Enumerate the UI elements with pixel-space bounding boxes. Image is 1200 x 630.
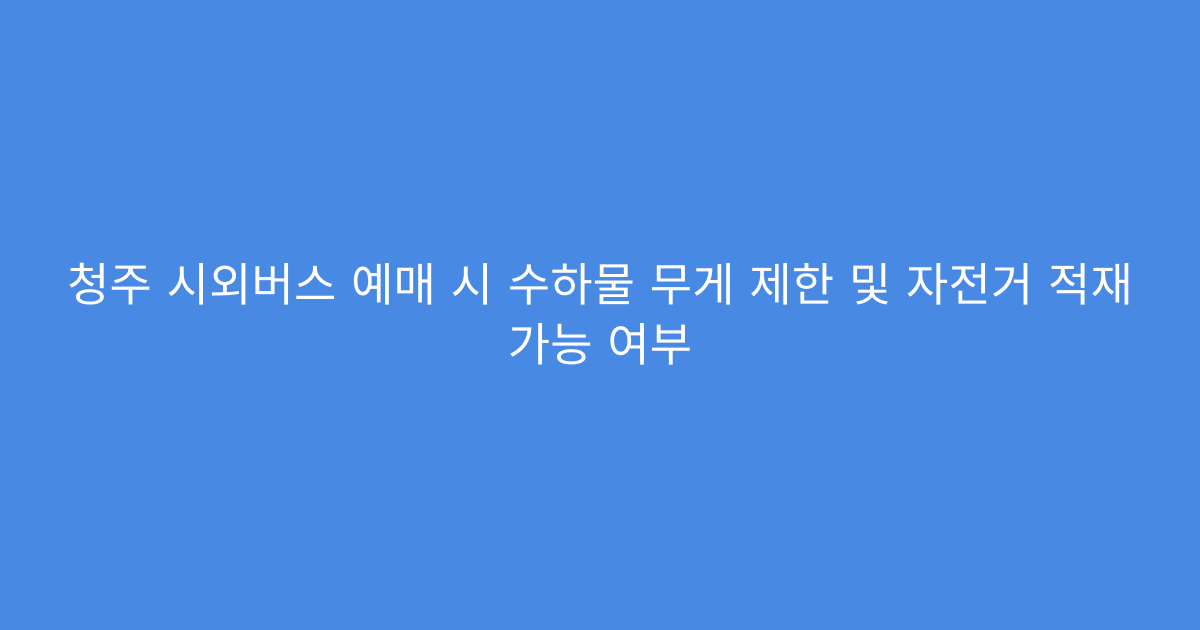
og-card: 청주 시외버스 예매 시 수하물 무게 제한 및 자전거 적재 가능 여부 [0,0,1200,630]
page-title: 청주 시외버스 예매 시 수하물 무게 제한 및 자전거 적재 가능 여부 [56,255,1144,375]
